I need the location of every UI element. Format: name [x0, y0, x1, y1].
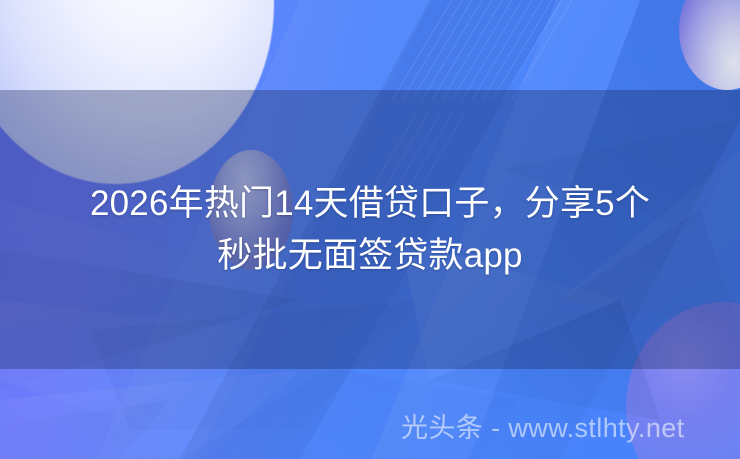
site-watermark: 光头条 - www.stlhty.net [401, 411, 685, 445]
banner-headline: 2026年热门14天借贷口子，分享5个 秒批无面签贷款app [0, 178, 740, 282]
promo-banner: 2026年热门14天借贷口子，分享5个 秒批无面签贷款app 光头条 - www… [0, 0, 740, 459]
